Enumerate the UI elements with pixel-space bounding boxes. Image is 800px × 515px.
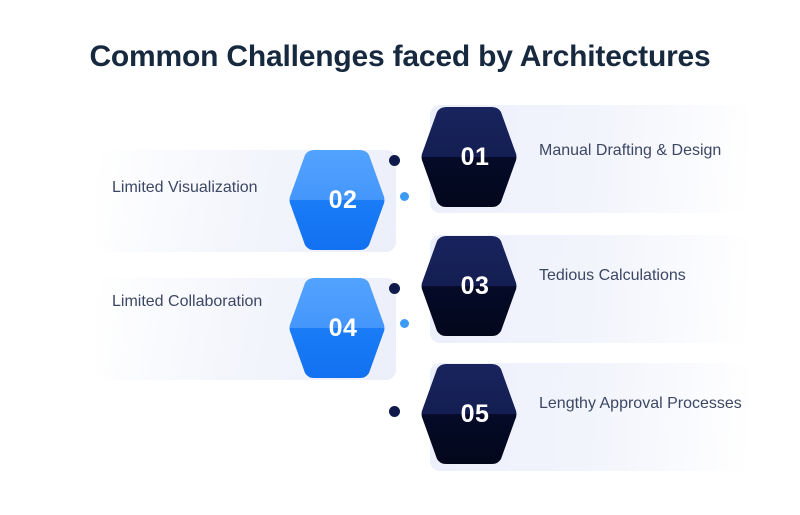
connector-dot-dark-3: [389, 406, 400, 417]
hexagon-shape-icon: [288, 276, 386, 380]
label-item-05: Lengthy Approval Processes: [539, 393, 749, 416]
page-title: Common Challenges faced by Architectures: [0, 40, 800, 74]
hexagon-shape-icon: [420, 105, 518, 209]
hexagon-item-02[interactable]: 02: [288, 148, 386, 252]
label-item-04: Limited Collaboration: [112, 291, 292, 314]
connector-dot-blue-1: [400, 192, 409, 201]
hexagon-item-01[interactable]: 01: [420, 105, 518, 209]
hexagon-shape-icon: [420, 362, 518, 466]
infographic-root: Common Challenges faced by Architectures…: [0, 0, 800, 515]
hexagon-item-03[interactable]: 03: [420, 234, 518, 338]
connector-dot-dark-2: [389, 283, 400, 294]
hexagon-item-04[interactable]: 04: [288, 276, 386, 380]
label-item-03: Tedious Calculations: [539, 265, 749, 288]
hexagon-item-05[interactable]: 05: [420, 362, 518, 466]
label-item-02: Limited Visualization: [112, 177, 292, 200]
hexagon-shape-icon: [420, 234, 518, 338]
label-item-01: Manual Drafting & Design: [539, 140, 749, 163]
connector-dot-blue-2: [400, 319, 409, 328]
connector-dot-dark-1: [389, 155, 400, 166]
hexagon-shape-icon: [288, 148, 386, 252]
